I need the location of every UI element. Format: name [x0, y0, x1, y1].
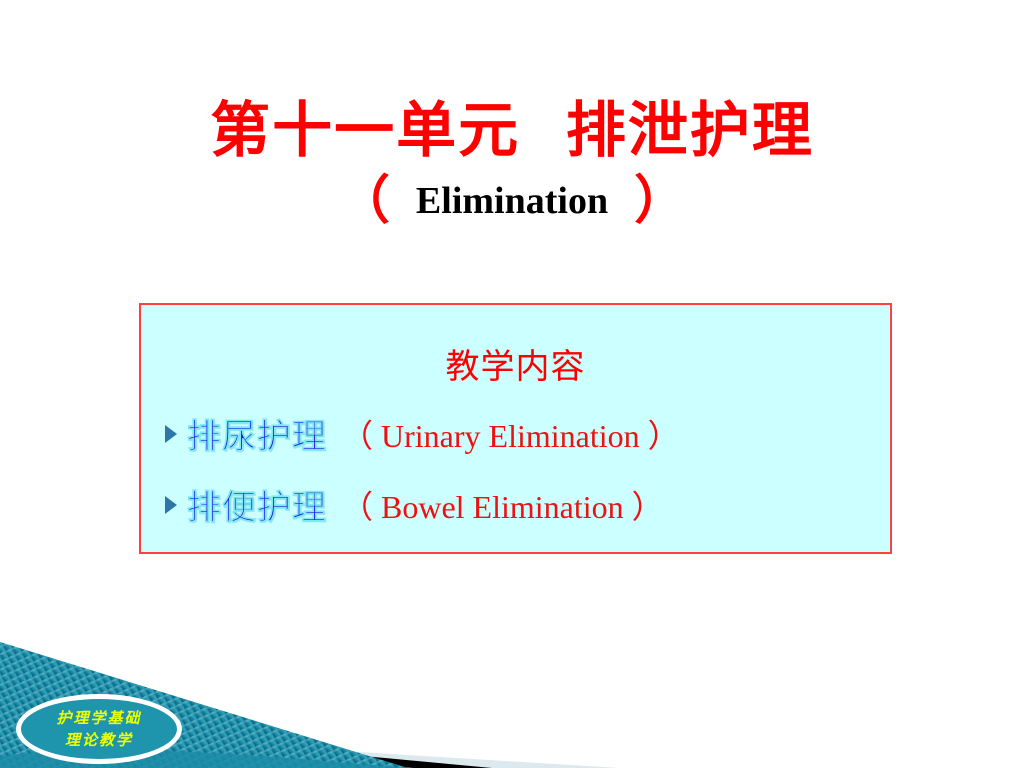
list-item[interactable]: 排尿护理 （ Urinary Elimination ）: [165, 409, 890, 458]
triangle-bullet-icon: [165, 425, 177, 443]
page-title: 第十一单元 排泄护理: [0, 96, 1024, 166]
subtitle-close-paren: ）: [634, 170, 686, 231]
slide-subtitle: （Elimination）: [0, 172, 1024, 230]
list-item-label-en: （ Urinary Elimination ）: [341, 411, 680, 457]
badge-line-2: 理论教学: [65, 729, 133, 751]
subtitle-english: Elimination: [390, 180, 634, 222]
teaching-content-box: 教学内容 排尿护理 （ Urinary Elimination ） 排便护理 （…: [139, 303, 892, 554]
list-item-label-cn: 排便护理: [187, 480, 327, 529]
list-item-label-en: （ Bowel Elimination ）: [341, 482, 664, 528]
triangle-bullet-icon: [165, 496, 177, 514]
subtitle-open-paren: （: [338, 170, 390, 231]
list-item-label-cn: 排尿护理: [187, 409, 327, 458]
content-box-heading: 教学内容: [141, 347, 890, 387]
badge-text-block: 护理学基础 理论教学: [16, 694, 182, 764]
course-badge: 护理学基础 理论教学: [16, 694, 182, 764]
list-item[interactable]: 排便护理 （ Bowel Elimination ）: [165, 480, 890, 529]
badge-line-1: 护理学基础: [56, 707, 141, 729]
slide-title-block: 第十一单元 排泄护理 （Elimination）: [0, 96, 1024, 230]
slide-canvas: 第十一单元 排泄护理 （Elimination） 教学内容 排尿护理 （ Uri…: [0, 0, 1024, 768]
